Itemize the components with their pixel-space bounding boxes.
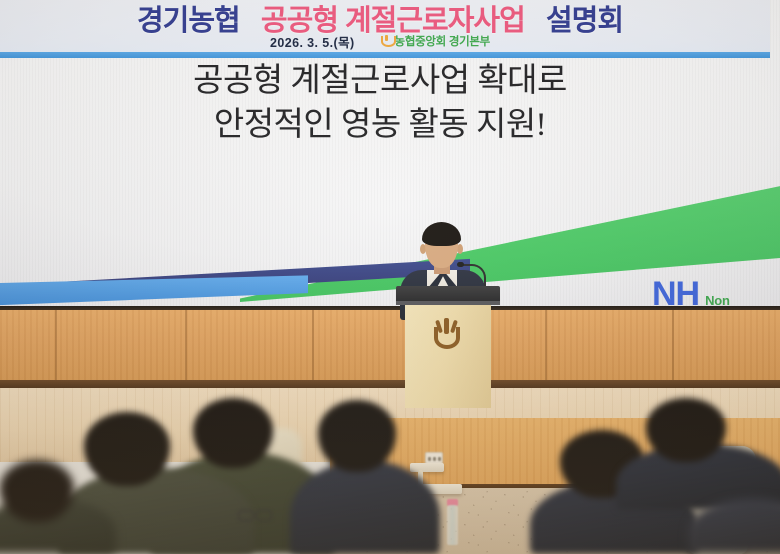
microphone-arm [460,264,486,288]
wall-panel-seam [545,310,547,382]
wall-panel-seam [55,310,57,382]
water-bottle-icon [447,505,458,545]
nonghyup-emblem-icon [432,318,462,352]
eyeglasses-icon [238,510,272,520]
gooseneck-microphone-icon [460,264,486,288]
conference-photo: 경기농협 공공형 계절근로자사업 설명회 2026. 3. 5.(목) 농협중앙… [0,0,780,554]
microphone-capsule [457,262,464,267]
emblem-leaf-center [444,318,449,334]
wall-panel-seam [312,310,314,382]
podium [396,286,500,408]
wall-panel-seam [185,310,187,382]
podium-top-edge [396,301,500,305]
speaker-hair [422,222,461,246]
wall-panel-seam [672,310,674,382]
